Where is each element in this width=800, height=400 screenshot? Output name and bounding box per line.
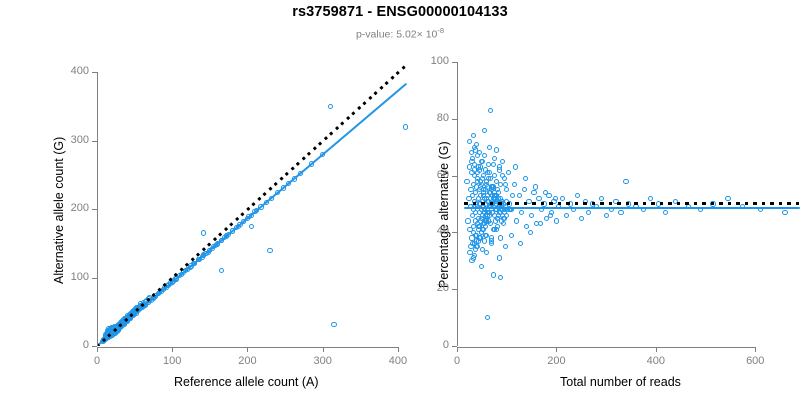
- data-point: [513, 164, 518, 169]
- data-point: [618, 210, 623, 215]
- data-point: [494, 227, 499, 232]
- data-point: [469, 258, 474, 263]
- data-point: [504, 187, 509, 192]
- data-point: [514, 218, 519, 223]
- data-point: [483, 167, 488, 172]
- data-point: [499, 218, 504, 223]
- data-point: [498, 182, 503, 187]
- data-point: [518, 241, 523, 246]
- y-tick: [92, 72, 97, 73]
- data-point: [219, 268, 224, 273]
- right-plot-area: [457, 62, 800, 346]
- x-tick: [656, 347, 657, 352]
- data-point: [480, 159, 485, 164]
- data-point: [498, 275, 503, 280]
- x-tick: [247, 347, 248, 352]
- identity-line: [97, 63, 408, 346]
- y-tick: [92, 141, 97, 142]
- data-point: [554, 218, 559, 223]
- right-xaxis-title: Total number of reads: [560, 375, 681, 389]
- figure-root: rs3759871 - ENSG00000104133 p-value: 5.0…: [0, 0, 800, 400]
- data-point: [523, 176, 528, 181]
- x-tick-label: 300: [303, 355, 343, 367]
- x-tick: [172, 347, 173, 352]
- data-point: [560, 196, 565, 201]
- y-tick-label: 80: [409, 112, 449, 124]
- y-tick-label: 200: [49, 202, 89, 214]
- data-point: [493, 218, 498, 223]
- data-point: [464, 179, 469, 184]
- data-point: [623, 179, 628, 184]
- y-tick-label: 40: [409, 225, 449, 237]
- data-point: [492, 173, 497, 178]
- y-tick: [452, 119, 457, 120]
- data-point: [485, 315, 490, 320]
- x-tick: [398, 347, 399, 352]
- x-tick: [755, 347, 756, 352]
- data-point: [548, 213, 553, 218]
- data-point: [331, 322, 336, 327]
- data-point: [519, 210, 524, 215]
- x-tick-label: 100: [152, 355, 192, 367]
- y-axis-line: [97, 72, 98, 346]
- data-point: [488, 108, 493, 113]
- x-tick: [457, 347, 458, 352]
- right-yaxis-title: Percentage alternative (G): [437, 141, 451, 288]
- data-point: [469, 159, 474, 164]
- x-tick-label: 0: [437, 355, 477, 367]
- data-point: [536, 196, 541, 201]
- data-point: [469, 150, 474, 155]
- x-tick: [323, 347, 324, 352]
- x-tick-label: 400: [636, 355, 676, 367]
- data-point: [564, 213, 569, 218]
- x-tick-label: 400: [378, 355, 418, 367]
- data-point: [579, 216, 584, 221]
- data-point: [494, 147, 499, 152]
- left-panel: Alternative allele count (G) Reference a…: [0, 0, 420, 400]
- data-point: [553, 196, 558, 201]
- data-point: [500, 159, 505, 164]
- y-tick: [452, 232, 457, 233]
- y-tick: [452, 289, 457, 290]
- data-point: [663, 210, 668, 215]
- fit-line: [464, 207, 800, 209]
- y-tick: [452, 176, 457, 177]
- data-point: [465, 218, 470, 223]
- y-axis-line: [457, 62, 458, 346]
- data-point: [538, 221, 543, 226]
- data-point: [267, 248, 272, 253]
- data-point: [481, 227, 486, 232]
- data-point: [510, 193, 515, 198]
- data-point: [492, 156, 497, 161]
- data-point: [484, 250, 489, 255]
- data-point: [472, 253, 477, 258]
- data-point: [249, 224, 254, 229]
- data-point: [502, 176, 507, 181]
- y-tick-label: 100: [49, 271, 89, 283]
- left-xaxis-title: Reference allele count (A): [174, 375, 319, 389]
- y-tick: [452, 62, 457, 63]
- y-tick-label: 100: [409, 55, 449, 67]
- fifty-percent-line: [464, 202, 800, 205]
- left-plot-area: [97, 62, 413, 346]
- data-point: [503, 182, 508, 187]
- data-point: [528, 230, 533, 235]
- data-point: [328, 104, 333, 109]
- data-point: [487, 145, 492, 150]
- data-point: [725, 196, 730, 201]
- x-tick-label: 0: [77, 355, 117, 367]
- data-point: [491, 272, 496, 277]
- data-point: [479, 264, 484, 269]
- y-tick-label: 400: [49, 65, 89, 77]
- x-axis-line: [457, 347, 755, 348]
- data-point: [586, 210, 591, 215]
- data-point: [486, 176, 491, 181]
- data-point: [533, 184, 538, 189]
- x-tick-label: 600: [735, 355, 775, 367]
- data-point: [403, 124, 408, 129]
- right-panel: Percentage alternative (G) Total number …: [420, 0, 800, 400]
- x-tick: [556, 347, 557, 352]
- data-point: [482, 153, 487, 158]
- data-point: [471, 133, 476, 138]
- y-tick: [92, 209, 97, 210]
- data-point: [491, 162, 496, 167]
- data-point: [575, 193, 580, 198]
- y-tick-label: 0: [409, 339, 449, 351]
- data-point: [474, 142, 479, 147]
- y-tick-label: 300: [49, 134, 89, 146]
- data-point: [201, 230, 206, 235]
- x-tick-label: 200: [227, 355, 267, 367]
- data-point: [503, 244, 508, 249]
- y-tick: [92, 278, 97, 279]
- data-point: [497, 255, 502, 260]
- data-point: [517, 193, 522, 198]
- y-tick-label: 60: [409, 169, 449, 181]
- x-tick-label: 200: [536, 355, 576, 367]
- y-tick-label: 0: [49, 339, 89, 351]
- data-point: [498, 235, 503, 240]
- data-point: [782, 210, 787, 215]
- data-point: [599, 196, 604, 201]
- data-point: [482, 128, 487, 133]
- fit-line: [97, 82, 408, 346]
- data-point: [648, 196, 653, 201]
- data-point: [512, 182, 517, 187]
- data-point: [509, 233, 514, 238]
- data-point: [497, 164, 502, 169]
- x-tick: [97, 347, 98, 352]
- data-point: [604, 213, 609, 218]
- data-point: [531, 190, 536, 195]
- data-point: [467, 139, 472, 144]
- y-tick-label: 20: [409, 282, 449, 294]
- data-point: [506, 170, 511, 175]
- data-point: [524, 224, 529, 229]
- data-point: [489, 184, 494, 189]
- data-point: [522, 187, 527, 192]
- data-point: [529, 213, 534, 218]
- data-point: [489, 238, 494, 243]
